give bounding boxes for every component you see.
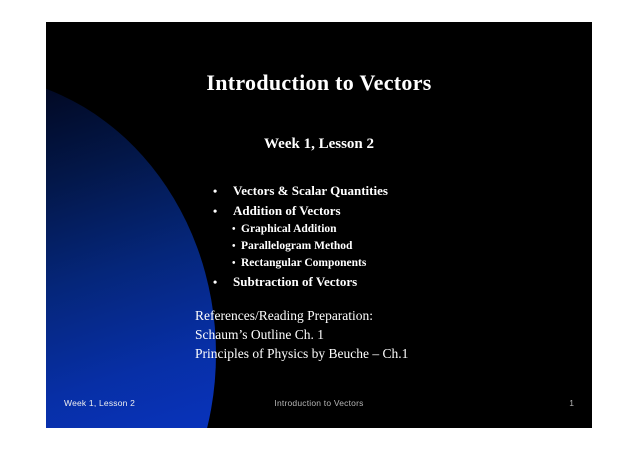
decorative-blue-ellipse bbox=[46, 74, 216, 428]
bullet-marker-icon: • bbox=[232, 239, 241, 255]
bullet-item: • Subtraction of Vectors bbox=[213, 272, 586, 292]
sub-bullet-item: • Parallelogram Method bbox=[232, 238, 586, 255]
references-heading: References/Reading Preparation: bbox=[195, 306, 408, 325]
slide-canvas: Introduction to Vectors Week 1, Lesson 2… bbox=[46, 22, 592, 428]
slide-subtitle: Week 1, Lesson 2 bbox=[46, 136, 592, 153]
slide-footer: Week 1, Lesson 2 Introduction to Vectors… bbox=[46, 398, 592, 412]
sub-bullet-item: • Graphical Addition bbox=[232, 221, 586, 238]
bullet-marker-icon: • bbox=[232, 222, 241, 238]
footer-page-number: 1 bbox=[569, 398, 574, 408]
bullet-marker-icon: • bbox=[213, 182, 233, 201]
bullet-label: Vectors & Scalar Quantities bbox=[233, 181, 388, 200]
bullet-label: Subtraction of Vectors bbox=[233, 272, 357, 291]
sub-bullet-item: • Rectangular Components bbox=[232, 255, 586, 272]
bullet-label: Addition of Vectors bbox=[233, 201, 341, 220]
references-block: References/Reading Preparation: Schaum’s… bbox=[195, 306, 408, 363]
bullet-marker-icon: • bbox=[213, 273, 233, 292]
bullet-list: • Vectors & Scalar Quantities • Addition… bbox=[206, 181, 586, 292]
bullet-marker-icon: • bbox=[232, 256, 241, 272]
bullet-item: • Addition of Vectors bbox=[213, 201, 586, 221]
sub-bullet-label: Graphical Addition bbox=[241, 221, 337, 237]
reference-line: Principles of Physics by Beuche – Ch.1 bbox=[195, 344, 408, 363]
sub-bullet-label: Rectangular Components bbox=[241, 255, 366, 271]
bullet-marker-icon: • bbox=[213, 202, 233, 221]
footer-title-label: Introduction to Vectors bbox=[46, 398, 592, 408]
reference-line: Schaum’s Outline Ch. 1 bbox=[195, 325, 408, 344]
bullet-item: • Vectors & Scalar Quantities bbox=[213, 181, 586, 201]
slide-title: Introduction to Vectors bbox=[46, 70, 592, 96]
sub-bullet-label: Parallelogram Method bbox=[241, 238, 352, 254]
